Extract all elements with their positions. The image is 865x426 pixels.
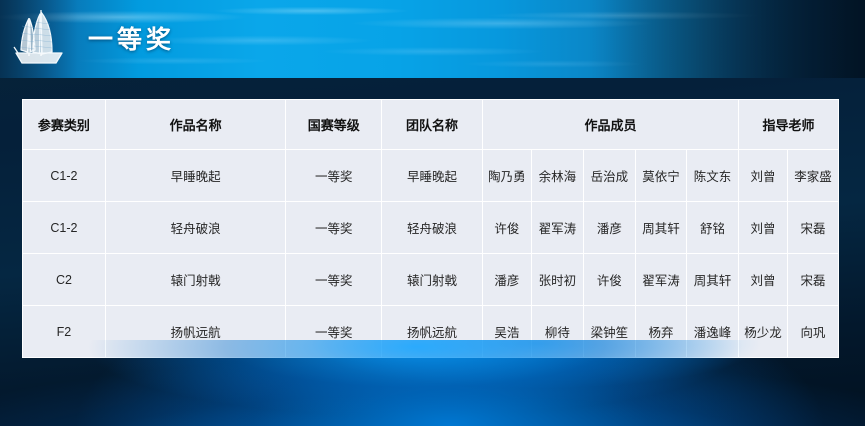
cell-member: 潘逸峰 [686, 306, 738, 358]
cell-member: 周其轩 [686, 254, 738, 306]
cell-member: 许俊 [483, 202, 532, 254]
cell-advisor: 宋磊 [787, 202, 838, 254]
cell-category: C1-2 [23, 202, 106, 254]
cell-member: 岳治成 [583, 150, 635, 202]
cell-work-name: 扬帆远航 [105, 306, 286, 358]
cell-member: 翟军涛 [531, 202, 583, 254]
column-header-members: 作品成员 [483, 100, 739, 150]
table-row: C2 辕门射戟 一等奖 辕门射戟 潘彦 张时初 许俊 翟军涛 周其轩 刘曾 宋磊 [23, 254, 839, 306]
cell-national-level: 一等奖 [286, 150, 382, 202]
cell-member: 舒铭 [686, 202, 738, 254]
cell-advisor: 刘曾 [739, 254, 788, 306]
cell-national-level: 一等奖 [286, 306, 382, 358]
slide-banner: 一等奖 [0, 0, 865, 78]
cell-member: 张时初 [531, 254, 583, 306]
cell-team-name: 轻舟破浪 [382, 202, 483, 254]
cell-member: 柳待 [531, 306, 583, 358]
cell-team-name: 扬帆远航 [382, 306, 483, 358]
cell-category: F2 [23, 306, 106, 358]
cell-team-name: 早睡晚起 [382, 150, 483, 202]
cell-member: 余林海 [531, 150, 583, 202]
cell-national-level: 一等奖 [286, 254, 382, 306]
table-row: C1-2 轻舟破浪 一等奖 轻舟破浪 许俊 翟军涛 潘彦 周其轩 舒铭 刘曾 宋… [23, 202, 839, 254]
cell-member: 潘彦 [583, 202, 635, 254]
column-header-work-name: 作品名称 [105, 100, 286, 150]
cell-advisor: 李家盛 [787, 150, 838, 202]
table-row: C1-2 早睡晚起 一等奖 早睡晚起 陶乃勇 余林海 岳治成 莫依宁 陈文东 刘… [23, 150, 839, 202]
column-header-national-level: 国赛等级 [286, 100, 382, 150]
column-header-advisors: 指导老师 [739, 100, 839, 150]
cell-member: 莫依宁 [635, 150, 686, 202]
cell-member: 潘彦 [483, 254, 532, 306]
table-body: C1-2 早睡晚起 一等奖 早睡晚起 陶乃勇 余林海 岳治成 莫依宁 陈文东 刘… [23, 150, 839, 358]
cell-member: 许俊 [583, 254, 635, 306]
table-header-row: 参赛类别 作品名称 国赛等级 团队名称 作品成员 指导老师 [23, 100, 839, 150]
awards-table: 参赛类别 作品名称 国赛等级 团队名称 作品成员 指导老师 C1-2 早睡晚起 … [22, 99, 839, 358]
sailboat-icon [10, 6, 72, 70]
column-header-category: 参赛类别 [23, 100, 106, 150]
cell-advisor: 刘曾 [739, 150, 788, 202]
cell-advisor: 杨少龙 [739, 306, 788, 358]
cell-member: 翟军涛 [635, 254, 686, 306]
awards-table-wrapper: 参赛类别 作品名称 国赛等级 团队名称 作品成员 指导老师 C1-2 早睡晚起 … [22, 99, 839, 358]
cell-category: C1-2 [23, 150, 106, 202]
cell-member: 梁钟笙 [583, 306, 635, 358]
column-header-team-name: 团队名称 [382, 100, 483, 150]
cell-team-name: 辕门射戟 [382, 254, 483, 306]
cell-member: 陶乃勇 [483, 150, 532, 202]
cell-advisor: 刘曾 [739, 202, 788, 254]
cell-category: C2 [23, 254, 106, 306]
cell-work-name: 轻舟破浪 [105, 202, 286, 254]
cell-member: 陈文东 [686, 150, 738, 202]
cell-work-name: 辕门射戟 [105, 254, 286, 306]
cell-national-level: 一等奖 [286, 202, 382, 254]
cell-member: 吴浩 [483, 306, 532, 358]
cell-advisor: 宋磊 [787, 254, 838, 306]
page-title: 一等奖 [88, 20, 175, 56]
table-row: F2 扬帆远航 一等奖 扬帆远航 吴浩 柳待 梁钟笙 杨弃 潘逸峰 杨少龙 向巩 [23, 306, 839, 358]
cell-member: 周其轩 [635, 202, 686, 254]
cell-member: 杨弃 [635, 306, 686, 358]
cell-work-name: 早睡晚起 [105, 150, 286, 202]
slide-canvas: 一等奖 参赛类别 作品名称 国赛等级 团队名称 作品成员 指导老师 [0, 0, 865, 426]
cell-advisor: 向巩 [787, 306, 838, 358]
